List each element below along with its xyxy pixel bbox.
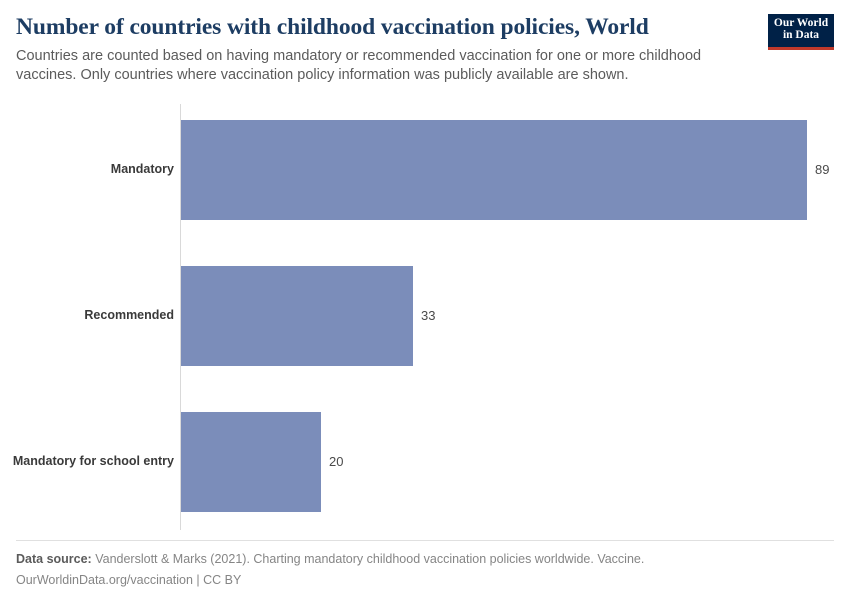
chart-page: Number of countries with childhood vacci…	[0, 0, 850, 600]
page-title: Number of countries with childhood vacci…	[16, 14, 756, 41]
table-row: Mandatory 89	[0, 120, 850, 220]
chart-subtitle: Countries are counted based on having ma…	[16, 47, 728, 86]
bar-chart: Mandatory 89 Recommended 33 Mandatory fo…	[0, 100, 850, 534]
chart-header: Number of countries with childhood vacci…	[16, 14, 834, 86]
table-row: Recommended 33	[0, 266, 850, 366]
bar-value-recommended: 33	[421, 308, 435, 323]
source-label: Data source:	[16, 552, 92, 566]
footer-link-line[interactable]: OurWorldinData.org/vaccination | CC BY	[16, 571, 834, 590]
bar-mandatory[interactable]	[181, 120, 807, 220]
bar-recommended[interactable]	[181, 266, 413, 366]
bar-school-entry[interactable]	[181, 412, 321, 512]
bar-value-mandatory: 89	[815, 162, 829, 177]
bar-label-recommended: Recommended	[0, 308, 174, 322]
bar-label-school-entry: Mandatory for school entry	[0, 454, 174, 468]
logo-line-1: Our World	[768, 17, 834, 29]
footer-source-line: Data source: Vanderslott & Marks (2021).…	[16, 550, 834, 569]
bar-value-school-entry: 20	[329, 454, 343, 469]
bar-label-mandatory: Mandatory	[0, 162, 174, 176]
logo-line-2: in Data	[768, 29, 834, 41]
chart-footer: Data source: Vanderslott & Marks (2021).…	[16, 540, 834, 590]
table-row: Mandatory for school entry 20	[0, 412, 850, 512]
source-text: Vanderslott & Marks (2021). Charting man…	[95, 552, 644, 566]
owid-logo[interactable]: Our World in Data	[768, 14, 834, 50]
